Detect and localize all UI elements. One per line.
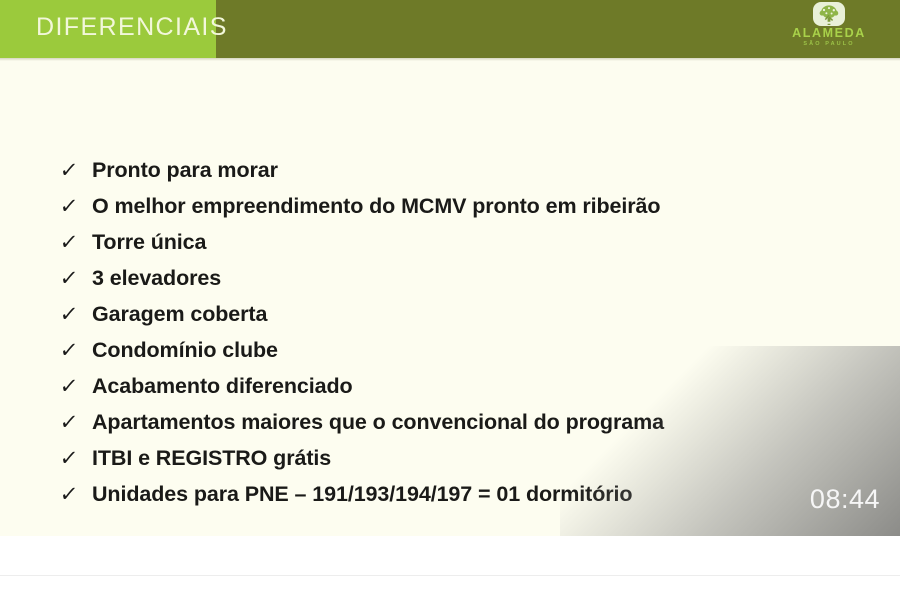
list-item: ✓ Garagem coberta [60, 296, 870, 332]
checkmark-icon: ✓ [58, 189, 94, 225]
list-item-label: Apartamentos maiores que o convencional … [92, 404, 870, 440]
slide-root: DIFERENCIAIS ALAMEDA SÃO PAULO ✓ Pronto … [0, 0, 900, 600]
list-item-label: ITBI e REGISTRO grátis [92, 440, 870, 476]
logo-subtitle: SÃO PAULO [776, 40, 882, 48]
checkmark-icon: ✓ [58, 261, 94, 297]
differentials-list: ✓ Pronto para morar ✓ O melhor empreendi… [60, 152, 870, 512]
list-item-label: Pronto para morar [92, 152, 870, 188]
list-item-label: Torre única [92, 224, 870, 260]
list-item-label: Unidades para PNE – 191/193/194/197 = 01… [92, 476, 870, 512]
list-item-label: O melhor empreendimento do MCMV pronto e… [92, 188, 870, 224]
list-item: ✓ ITBI e REGISTRO grátis [60, 440, 870, 476]
list-item-label: Acabamento diferenciado [92, 368, 870, 404]
checkmark-icon: ✓ [58, 477, 94, 513]
list-item: ✓ Unidades para PNE – 191/193/194/197 = … [60, 476, 870, 512]
page-title: DIFERENCIAIS [36, 13, 228, 42]
presentation-slide: DIFERENCIAIS ALAMEDA SÃO PAULO ✓ Pronto … [0, 0, 900, 536]
checkmark-icon: ✓ [58, 153, 94, 189]
list-item: ✓ Torre única [60, 224, 870, 260]
clock-overlay: 08:44 [810, 484, 880, 514]
logo-wordmark: ALAMEDA [776, 27, 882, 40]
tree-icon [809, 2, 849, 28]
list-item-label: Condomínio clube [92, 332, 870, 368]
list-item: ✓ Acabamento diferenciado [60, 368, 870, 404]
checkmark-icon: ✓ [58, 369, 94, 405]
slide-header-underline [0, 58, 900, 61]
list-item-label: 3 elevadores [92, 260, 870, 296]
checkmark-icon: ✓ [58, 405, 94, 441]
list-item: ✓ 3 elevadores [60, 260, 870, 296]
list-item: ✓ Apartamentos maiores que o convenciona… [60, 404, 870, 440]
page-divider-rule [0, 575, 900, 576]
checkmark-icon: ✓ [58, 225, 94, 261]
checkmark-icon: ✓ [58, 441, 94, 477]
list-item: ✓ Condomínio clube [60, 332, 870, 368]
list-item-label: Garagem coberta [92, 296, 870, 332]
checkmark-icon: ✓ [58, 333, 94, 369]
list-item: ✓ O melhor empreendimento do MCMV pronto… [60, 188, 870, 224]
checkmark-icon: ✓ [58, 297, 94, 333]
brand-logo: ALAMEDA SÃO PAULO [776, 2, 882, 54]
list-item: ✓ Pronto para morar [60, 152, 870, 188]
page-whitespace [0, 536, 900, 600]
